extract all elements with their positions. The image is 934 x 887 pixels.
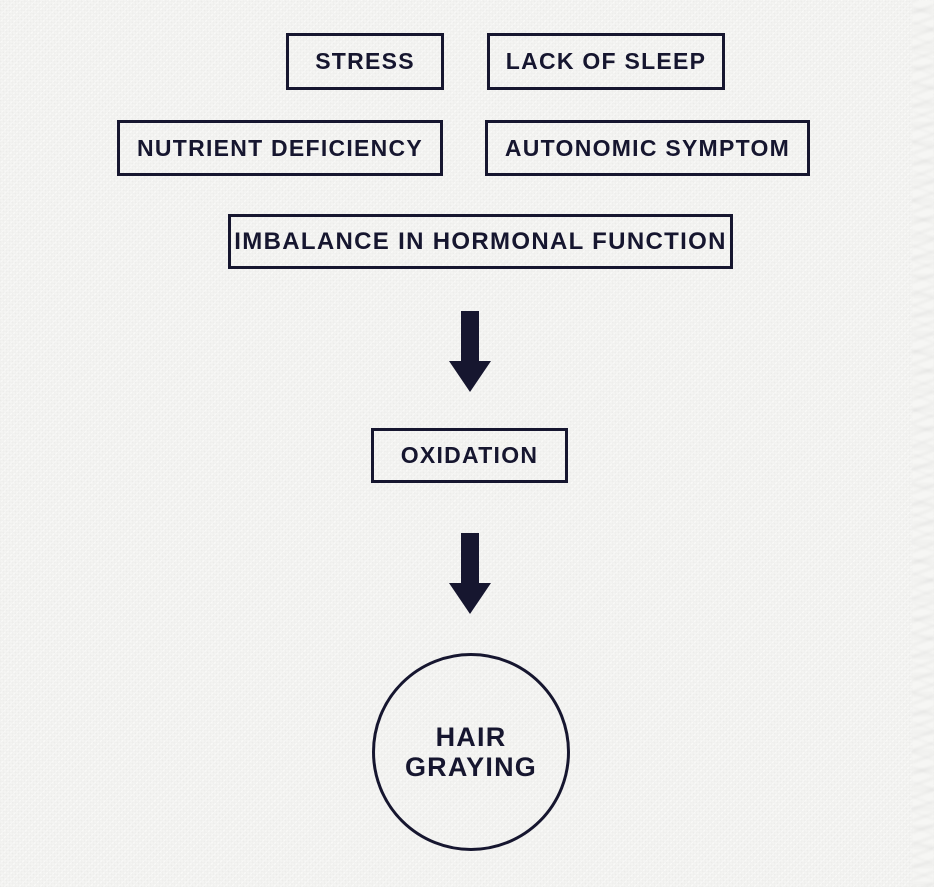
process-label: OXIDATION: [401, 444, 538, 467]
cause-box-nutrient-deficiency[interactable]: NUTRIENT DEFICIENCY: [117, 120, 443, 176]
arrow-down-icon: [446, 311, 494, 395]
cause-label: LACK OF SLEEP: [506, 50, 706, 73]
right-edge-marble-strip: [912, 0, 934, 887]
cause-label: AUTONOMIC SYMPTOM: [505, 137, 790, 160]
outcome-label-line-2: GRAYING: [405, 752, 537, 782]
outcome-circle-hair-graying[interactable]: HAIR GRAYING: [372, 653, 570, 851]
process-box-oxidation[interactable]: OXIDATION: [371, 428, 568, 483]
cause-box-stress[interactable]: STRESS: [286, 33, 444, 90]
cause-box-autonomic-symptom[interactable]: AUTONOMIC SYMPTOM: [485, 120, 810, 176]
cause-box-lack-of-sleep[interactable]: LACK OF SLEEP: [487, 33, 725, 90]
cause-label: STRESS: [315, 50, 415, 73]
diagram-canvas: STRESS LACK OF SLEEP NUTRIENT DEFICIENCY…: [0, 0, 934, 887]
outcome-label-line-1: HAIR: [436, 722, 507, 752]
arrow-down-icon: [446, 533, 494, 617]
cause-box-hormonal-imbalance[interactable]: IMBALANCE IN HORMONAL FUNCTION: [228, 214, 733, 269]
cause-label: NUTRIENT DEFICIENCY: [137, 137, 423, 160]
cause-label: IMBALANCE IN HORMONAL FUNCTION: [234, 230, 726, 254]
